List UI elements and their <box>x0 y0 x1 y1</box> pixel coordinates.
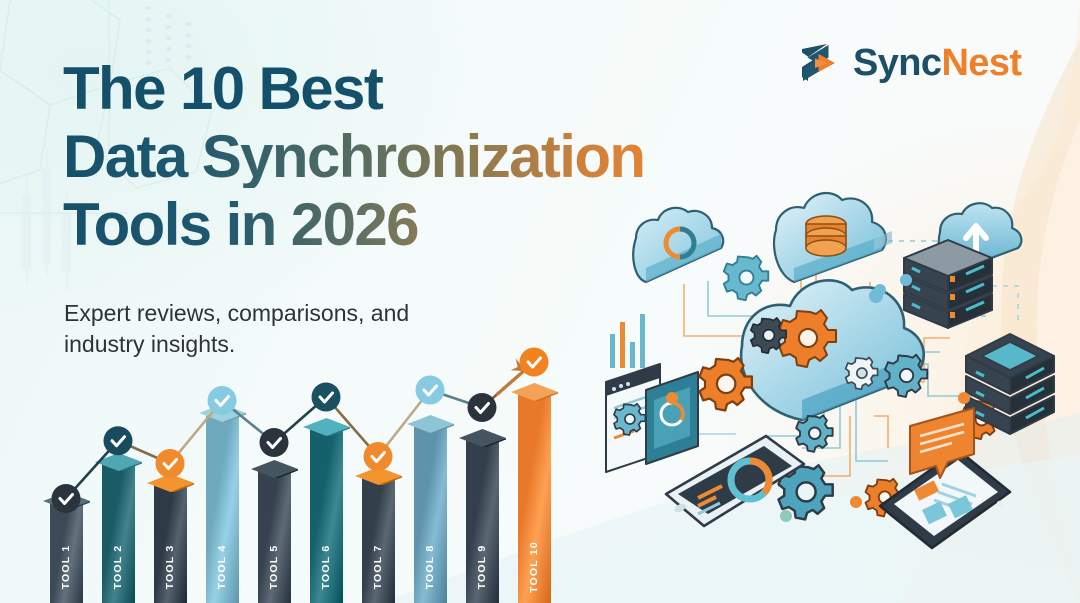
cloud-database-icon <box>774 193 886 282</box>
check-marker-10 <box>520 348 549 377</box>
gear-icon-teal-top <box>724 256 768 300</box>
bar-chart: TOOL 1TOOL 2TOOL 3TOOL 4TOOL 5TOOL 6TOOL… <box>40 358 560 603</box>
check-marker-1 <box>52 484 81 513</box>
background-candle-2 <box>42 168 51 264</box>
check-marker-4 <box>208 386 237 415</box>
cloud-gear-icon <box>741 280 924 420</box>
check-marker-2 <box>104 426 133 455</box>
title-line-1: The 10 Best <box>63 58 763 120</box>
gear-icon-orange-left <box>699 358 751 410</box>
background-candle-1 <box>22 195 31 269</box>
trend-line-overlay <box>40 358 560 603</box>
check-marker-9 <box>468 393 497 422</box>
check-marker-6 <box>312 383 341 412</box>
sync-arrows-icon <box>795 40 841 86</box>
check-marker-8 <box>416 376 445 405</box>
cloud-sync-icon <box>633 208 723 282</box>
check-marker-3 <box>156 449 185 478</box>
title-line-2: Data Synchronization <box>63 126 763 188</box>
trend-arrow <box>498 371 524 394</box>
server-stack-icon <box>966 334 1054 434</box>
page-subtitle: Expert reviews, comparisons, and industr… <box>64 298 494 360</box>
brand-name-part2: Nest <box>941 42 1021 84</box>
check-marker-7 <box>364 442 393 471</box>
brand-logo[interactable]: SyncNest <box>795 40 1021 86</box>
server-rack-icon <box>904 240 992 328</box>
database-cylinder-icon <box>806 216 846 256</box>
check-marker-5 <box>260 428 289 457</box>
brand-name: SyncNest <box>853 44 1021 82</box>
brand-name-part1: Sync <box>853 42 941 84</box>
poster-canvas: SyncNest The 10 Best Data Synchronizatio… <box>0 0 1080 603</box>
bar-chart-icon <box>610 314 645 368</box>
hero-illustration <box>588 186 1080 566</box>
